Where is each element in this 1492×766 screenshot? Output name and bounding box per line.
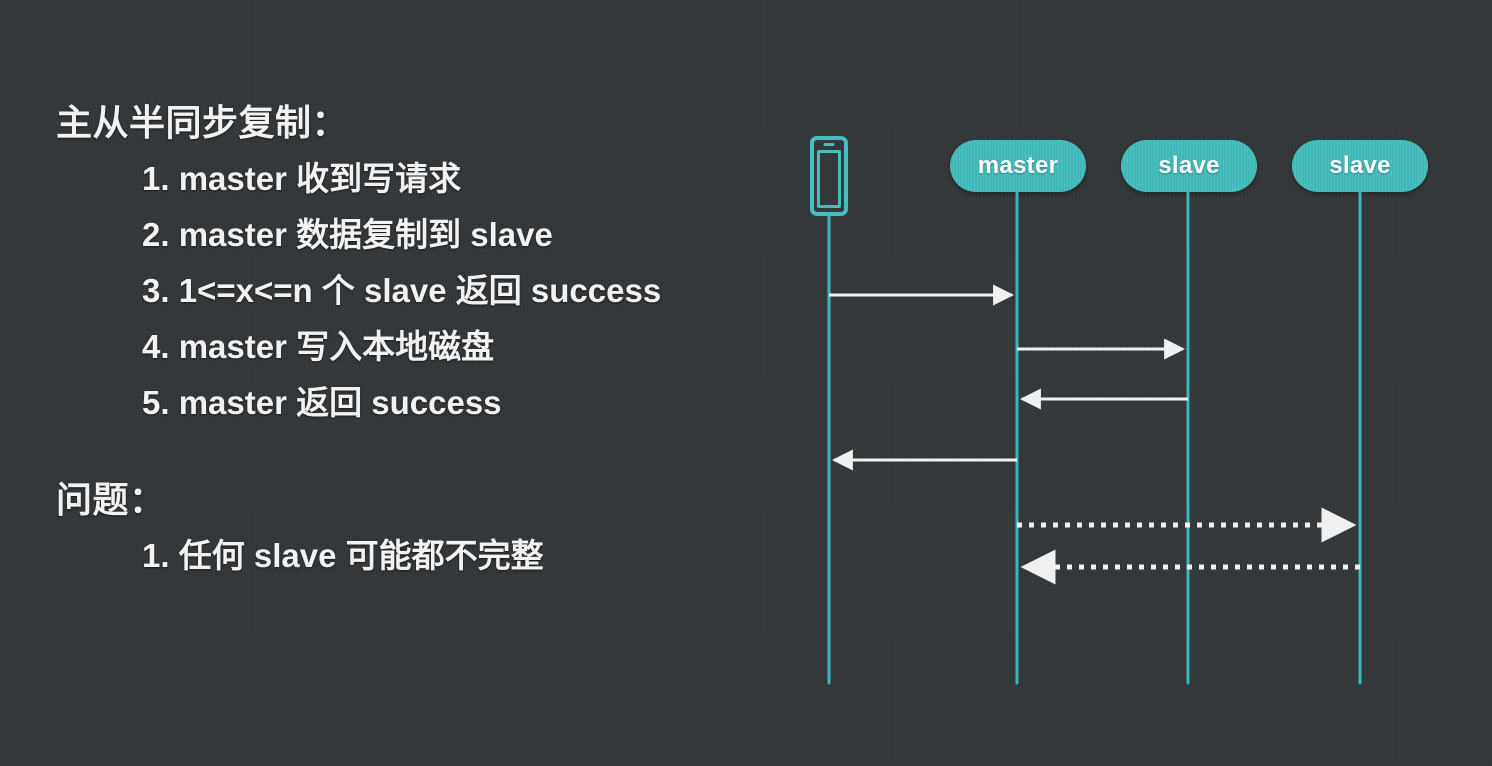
- participant-slave-1: slave: [1121, 140, 1257, 192]
- section-spacer: [56, 431, 756, 477]
- lifelines: [829, 192, 1360, 683]
- list-item: 1. master 收到写请求: [56, 151, 756, 207]
- participant-master: master: [950, 140, 1086, 192]
- list-item: 4. master 写入本地磁盘: [56, 319, 756, 375]
- steps-list: 1. master 收到写请求 2. master 数据复制到 slave 3.…: [56, 151, 756, 431]
- participant-slave-2: slave: [1292, 140, 1428, 192]
- page-title: 主从半同步复制：: [56, 100, 756, 145]
- list-item: 2. master 数据复制到 slave: [56, 207, 756, 263]
- text-content-column: 主从半同步复制： 1. master 收到写请求 2. master 数据复制到…: [56, 100, 756, 584]
- problem-section-title: 问题：: [56, 477, 756, 522]
- problems-list: 1. 任何 slave 可能都不完整: [56, 528, 756, 584]
- participant-label: slave: [1329, 152, 1391, 180]
- phone-speaker-icon: [824, 143, 835, 146]
- participant-label: master: [978, 152, 1059, 180]
- list-item: 1. 任何 slave 可能都不完整: [56, 528, 756, 584]
- mobile-phone-icon: [810, 136, 848, 216]
- list-item: 3. 1<=x<=n 个 slave 返回 success: [56, 263, 756, 319]
- participant-label: slave: [1158, 152, 1220, 180]
- slide-canvas: 主从半同步复制： 1. master 收到写请求 2. master 数据复制到…: [0, 0, 1492, 766]
- list-item: 5. master 返回 success: [56, 375, 756, 431]
- messages: [829, 295, 1360, 567]
- phone-screen: [817, 150, 841, 208]
